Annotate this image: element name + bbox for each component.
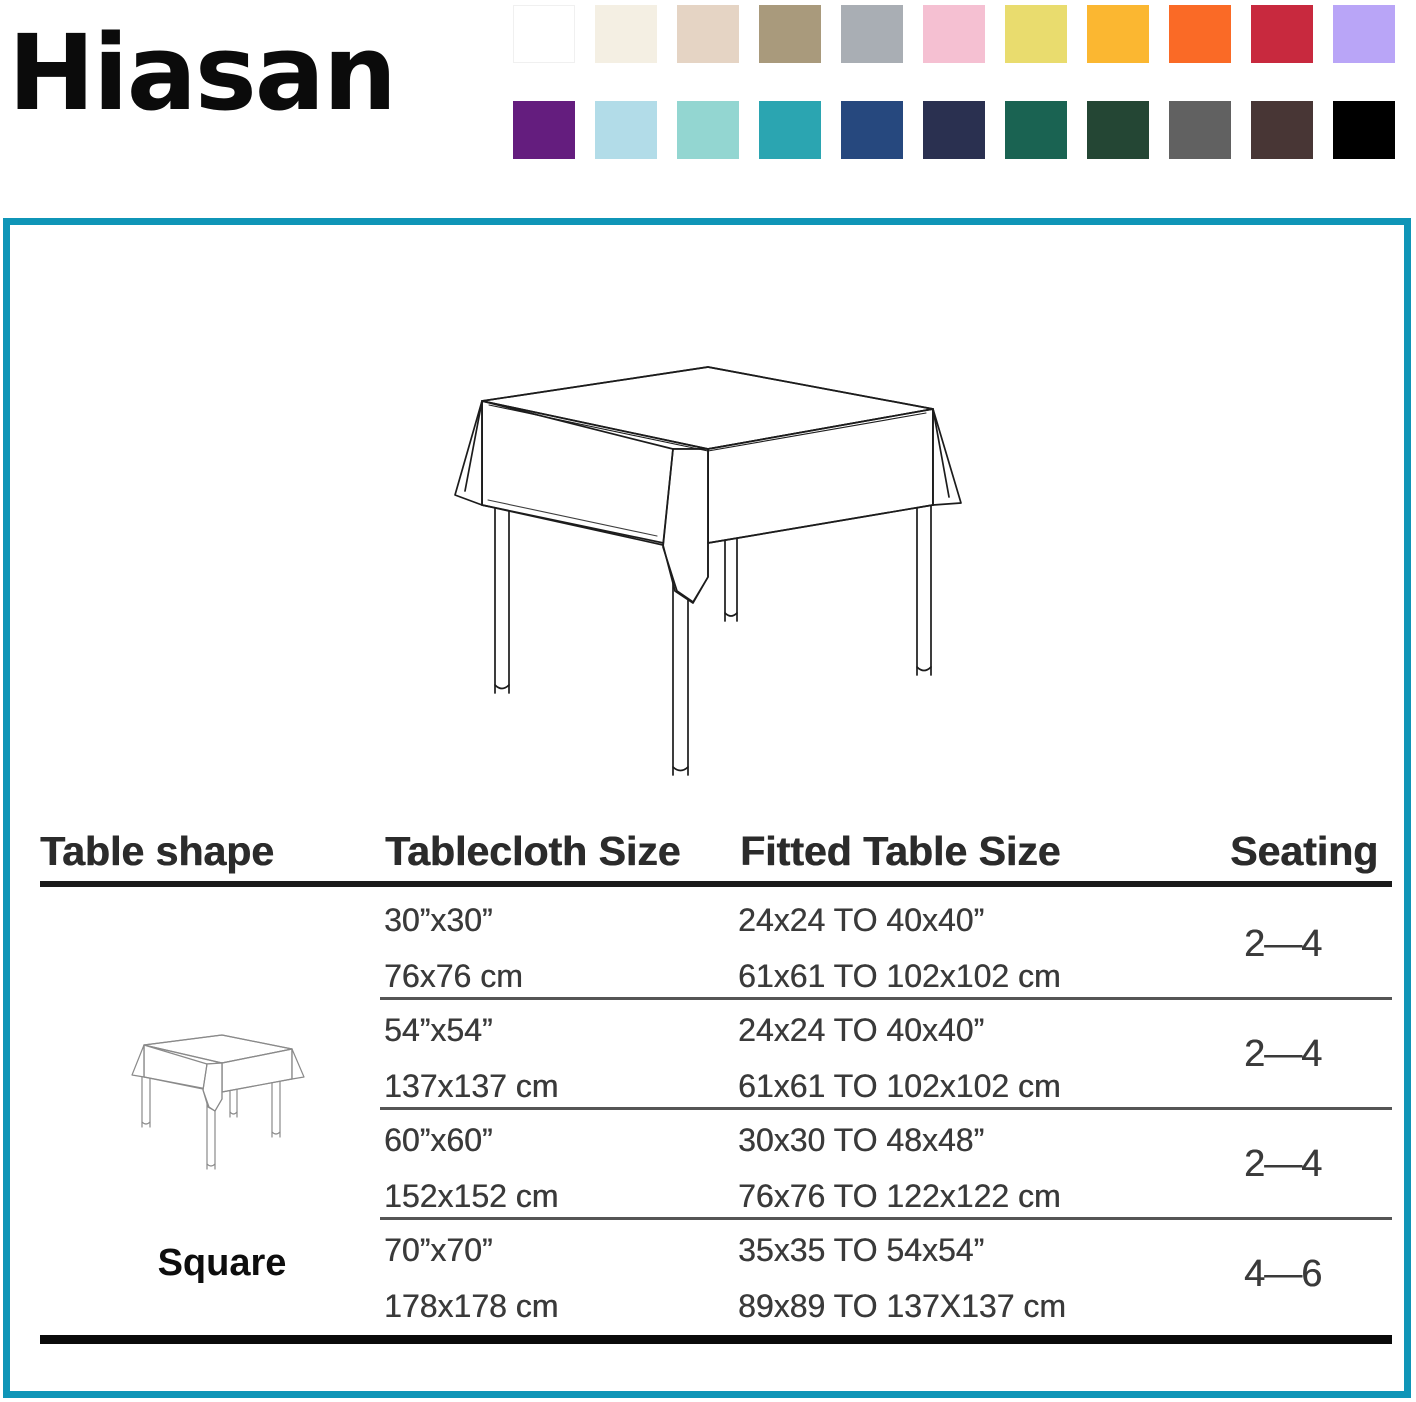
color-swatch-navy[interactable]: [923, 101, 985, 159]
color-swatch-gold[interactable]: [1087, 5, 1149, 63]
cell-tablecloth-size-inches: 30”x30”: [384, 901, 493, 939]
color-swatch-dark-gray[interactable]: [1169, 101, 1231, 159]
cell-tablecloth-size-inches: 70”x70”: [384, 1231, 493, 1269]
cell-tablecloth-size-inches: 60”x60”: [384, 1121, 493, 1159]
color-swatch-black[interactable]: [1333, 101, 1395, 159]
table-header-row: Table shape Tablecloth Size Fitted Table…: [32, 803, 1392, 875]
table-row: 70”x70” 178x178 cm 35x35 TO 54x54” 89x89…: [32, 1217, 1392, 1327]
color-swatch-purple[interactable]: [513, 101, 575, 159]
cell-tablecloth-size-cm: 178x178 cm: [384, 1287, 558, 1325]
color-swatch-emerald[interactable]: [1005, 101, 1067, 159]
cell-seating: 4—6: [1244, 1255, 1321, 1293]
color-swatch-aqua[interactable]: [677, 101, 739, 159]
color-swatch-pink[interactable]: [923, 5, 985, 63]
cell-fitted-size-inches: 35x35 TO 54x54”: [738, 1231, 984, 1269]
column-header-fitted-table-size: Fitted Table Size: [740, 827, 1060, 875]
color-swatch-brown[interactable]: [1251, 101, 1313, 159]
column-header-seating: Seating: [1230, 827, 1378, 875]
brand-swatch-strip: Hiasan: [0, 0, 1416, 200]
column-header-tablecloth-size: Tablecloth Size: [385, 827, 680, 875]
cell-fitted-size-cm: 76x76 TO 122x122 cm: [738, 1177, 1061, 1215]
table-row: 30”x30” 76x76 cm 24x24 TO 40x40” 61x61 T…: [32, 887, 1392, 997]
color-swatch-row-2: [513, 101, 1409, 159]
cell-seating: 2—4: [1244, 925, 1321, 963]
color-swatch-grid: [513, 5, 1409, 163]
color-swatch-teal[interactable]: [759, 101, 821, 159]
cell-seating: 2—4: [1244, 1145, 1321, 1183]
table-row: 54”x54” 137x137 cm 24x24 TO 40x40” 61x61…: [32, 997, 1392, 1107]
color-swatch-beige[interactable]: [677, 5, 739, 63]
color-swatch-yellow[interactable]: [1005, 5, 1067, 63]
cell-fitted-size-inches: 24x24 TO 40x40”: [738, 1011, 984, 1049]
cell-tablecloth-size-cm: 137x137 cm: [384, 1067, 558, 1105]
cell-fitted-size-inches: 24x24 TO 40x40”: [738, 901, 984, 939]
color-swatch-light-blue[interactable]: [595, 101, 657, 159]
color-swatch-khaki[interactable]: [759, 5, 821, 63]
cell-seating: 2—4: [1244, 1035, 1321, 1073]
table-body: Square 30”x30” 76x76 cm 24x24 TO 40x40” …: [32, 887, 1392, 1327]
column-header-table-shape: Table shape: [40, 827, 274, 875]
color-swatch-ivory[interactable]: [595, 5, 657, 63]
table-bottom-rule: [40, 1335, 1392, 1344]
cell-tablecloth-size-cm: 76x76 cm: [384, 957, 523, 995]
size-guide-panel: Table shape Tablecloth Size Fitted Table…: [3, 218, 1411, 1398]
color-swatch-hunter-green[interactable]: [1087, 101, 1149, 159]
cell-fitted-size-cm: 61x61 TO 102x102 cm: [738, 1067, 1061, 1105]
square-table-illustration-icon: [425, 345, 985, 805]
table-row: 60”x60” 152x152 cm 30x30 TO 48x48” 76x76…: [32, 1107, 1392, 1217]
color-swatch-white[interactable]: [513, 5, 575, 63]
cell-fitted-size-cm: 61x61 TO 102x102 cm: [738, 957, 1061, 995]
size-table: Table shape Tablecloth Size Fitted Table…: [32, 803, 1392, 1327]
cell-fitted-size-inches: 30x30 TO 48x48”: [738, 1121, 984, 1159]
color-swatch-gray[interactable]: [841, 5, 903, 63]
color-swatch-lavender[interactable]: [1333, 5, 1395, 63]
color-swatch-orange[interactable]: [1169, 5, 1231, 63]
color-swatch-red[interactable]: [1251, 5, 1313, 63]
cell-tablecloth-size-cm: 152x152 cm: [384, 1177, 558, 1215]
brand-logo: Hiasan: [8, 8, 458, 138]
cell-fitted-size-cm: 89x89 TO 137X137 cm: [738, 1287, 1066, 1325]
cell-tablecloth-size-inches: 54”x54”: [384, 1011, 493, 1049]
color-swatch-denim-blue[interactable]: [841, 101, 903, 159]
color-swatch-row-1: [513, 5, 1409, 63]
